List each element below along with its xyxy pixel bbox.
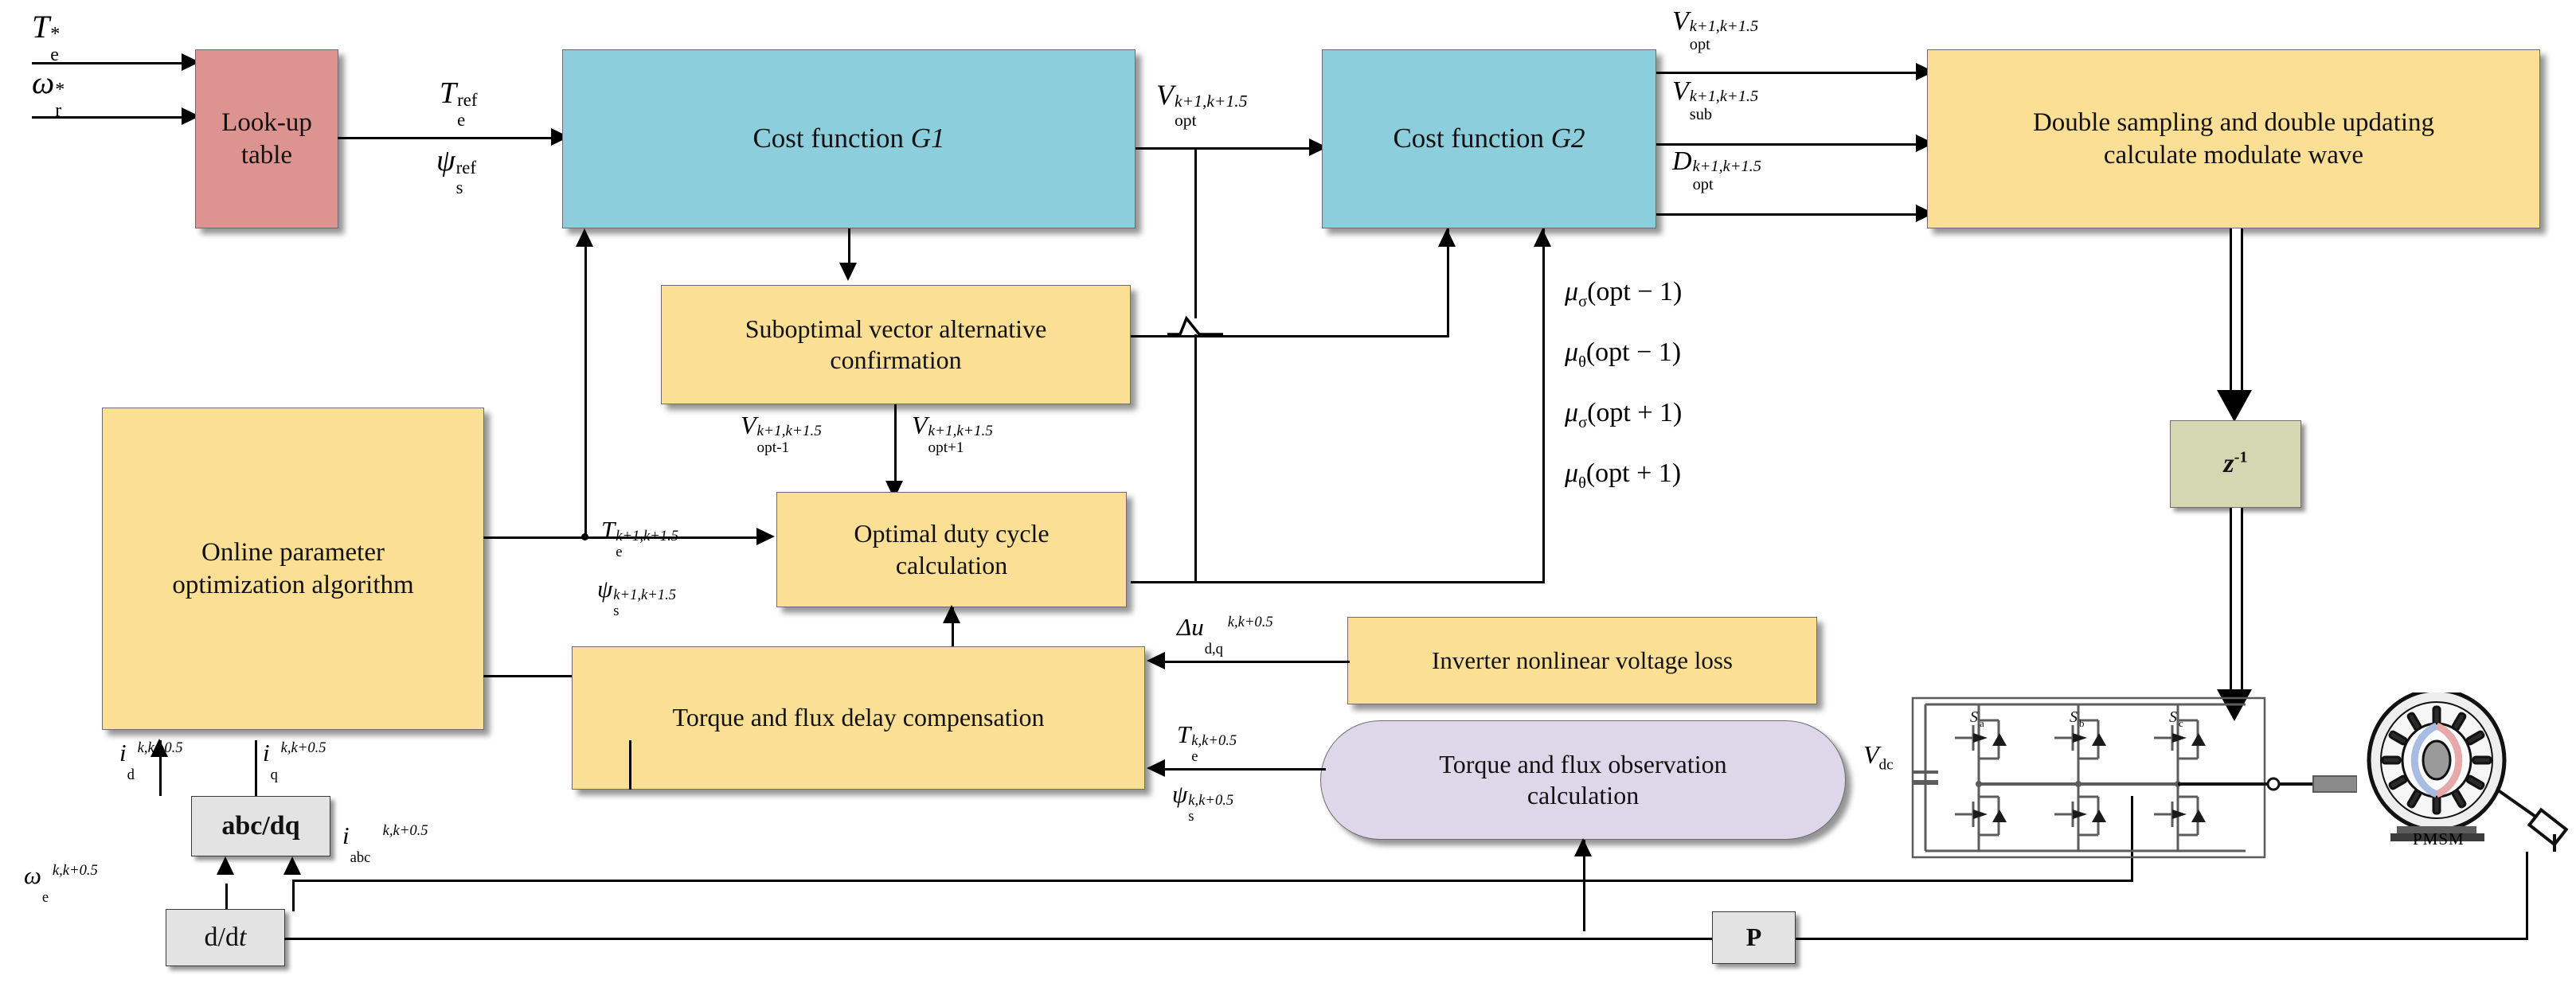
svg-text:S: S — [2169, 708, 2177, 726]
block-abc-dq[interactable]: abc/dq — [191, 796, 330, 856]
block-double-sampling[interactable]: Double sampling and double updating calc… — [1927, 49, 2540, 228]
block-optimal-duty[interactable]: Optimal duty cycle calculation — [776, 492, 1127, 607]
line-iabc-feedback — [292, 880, 2133, 882]
svg-text:a: a — [1980, 717, 1984, 729]
line-vopt-branch-down — [1194, 147, 1197, 318]
lookup-table-line2: table — [241, 139, 292, 171]
cost-function-g1-label: Cost function G1 — [752, 122, 944, 156]
mu-label-theta-minus: μθ(opt − 1) — [1565, 337, 1681, 372]
signal-label-te-k: Tk,k+0.5e — [1177, 720, 1190, 749]
mu-label-sigma-minus: μσ(opt − 1) — [1565, 277, 1682, 311]
line-iq-up — [255, 740, 257, 796]
input-line-te — [32, 62, 191, 64]
line-g2-dopt — [1656, 213, 1927, 216]
arrowhead-te-psi-duty — [756, 528, 775, 545]
arrowhead-g1-suboptimal — [839, 263, 857, 281]
inverter-schematic: S a S b S c — [1911, 696, 2357, 868]
double-sampling-line1: Double sampling and double updating — [2033, 107, 2434, 138]
line-obs-to-delay — [1163, 768, 1326, 770]
line-iabc-to-abcdq — [292, 880, 295, 911]
block-torque-flux-delay[interactable]: Torque and flux delay compensation — [572, 646, 1145, 790]
arrowhead-ddt-abcdq — [217, 856, 234, 875]
signal-label-v-opt-out: Vk+1,k+1.5opt — [1672, 6, 1689, 37]
svg-text:b: b — [2079, 717, 2085, 729]
torque-flux-obs-line1: Torque and flux observation — [1439, 749, 1726, 780]
line-lookup-to-g1 — [338, 137, 561, 139]
signal-label-psi-s-k: ψk,k+0.5s — [1172, 780, 1187, 809]
suboptimal-line1: Suboptimal vector alternative — [745, 314, 1047, 345]
ddt-label: d/dt — [205, 921, 247, 954]
pmsm-label: PMSM — [2413, 829, 2465, 849]
block-cost-function-g2[interactable]: Cost function G2 — [1322, 49, 1656, 228]
line-suboptimal-right — [1131, 335, 1449, 337]
z-inverse-label: z-1 — [2223, 447, 2247, 480]
line-duty-to-g2-up — [1542, 228, 1545, 583]
signal-label-delta-u-dq: Δud,qk,k+0.5 — [1177, 613, 1273, 642]
g2-symbol: G2 — [1551, 123, 1585, 154]
block-torque-flux-observation[interactable]: Torque and flux observation calculation — [1320, 720, 1846, 840]
block-z-inverse[interactable]: z-1 — [2170, 420, 2301, 508]
signal-label-te-star: T*e — [32, 8, 49, 45]
mu-label-sigma-plus: μσ(opt + 1) — [1565, 398, 1682, 432]
signal-label-i-q: iqk,k+0.5 — [263, 739, 326, 767]
svg-text:S: S — [1970, 708, 1978, 726]
arrowhead-iabc-abcdq — [283, 856, 301, 875]
svg-text:c: c — [2179, 717, 2183, 729]
svg-text:S: S — [2070, 708, 2078, 726]
suboptimal-line2: confirmation — [830, 345, 961, 376]
line-theta-feedback — [284, 938, 2528, 940]
block-cost-function-g1[interactable]: Cost function G1 — [562, 49, 1136, 228]
line-suboptimal-to-duty — [894, 404, 897, 492]
signal-label-d-opt-out: Dk+1,k+1.5opt — [1672, 146, 1692, 177]
cost-function-g2-label: Cost function G2 — [1393, 122, 1585, 156]
torque-flux-delay-label: Torque and flux delay compensation — [673, 702, 1045, 733]
g1-symbol: G1 — [911, 123, 945, 154]
optimal-duty-line2: calculation — [896, 550, 1007, 581]
signal-label-i-abc: iabck,k+0.5 — [342, 821, 428, 850]
arrowhead-p-observation — [1574, 838, 1592, 856]
optimal-duty-line1: Optimal duty cycle — [854, 518, 1049, 549]
abc-dq-label: abc/dq — [221, 809, 299, 842]
arrowhead-online-g1 — [576, 228, 593, 247]
line-g1-to-g2 — [1136, 147, 1319, 150]
block-ddt[interactable]: d/dt — [166, 909, 285, 966]
line-idq-into-delay — [629, 740, 631, 790]
line-inverterloss-to-delay — [1163, 661, 1350, 663]
bus-doublesampling-to-z — [2230, 228, 2243, 400]
signal-label-v-opt-minus1: Vk+1,k+1.5opt-1 — [741, 411, 756, 440]
arrowhead-inverterloss-delay — [1147, 652, 1165, 669]
junction-dot-te-psi — [581, 533, 588, 540]
arrowhead-duty-g2 — [1534, 228, 1551, 247]
block-inverter-loss[interactable]: Inverter nonlinear voltage loss — [1347, 617, 1817, 704]
signal-label-te-k1: Tk+1,k+1.5e — [601, 516, 615, 544]
signal-label-v-dc: Vdc — [1863, 740, 1894, 774]
line-duty-to-g2-right — [1131, 581, 1545, 583]
line-vopt-branch-down2 — [1194, 334, 1197, 581]
input-line-wr — [32, 116, 191, 119]
signal-label-wr-star: ω*r — [32, 64, 54, 101]
arrowhead-suboptimal-g2 — [1438, 228, 1456, 247]
online-param-line1: Online parameter — [201, 536, 385, 568]
arrowhead-delay-duty — [943, 605, 960, 623]
signal-label-v-opt-plus1: Vk+1,k+1.5opt+1 — [912, 411, 928, 440]
line-online-to-g1-h — [483, 536, 587, 539]
torque-flux-obs-line2: calculation — [1527, 780, 1639, 811]
arrowhead-to-z — [2217, 390, 2252, 422]
lookup-table-line1: Look-up — [221, 107, 312, 138]
signal-label-v-opt-g1g2: Vk+1,k+1.5opt — [1156, 78, 1174, 111]
signal-label-psi-s-ref: ψrefs — [436, 143, 455, 178]
p-label: P — [1746, 922, 1762, 953]
block-diagram-canvas: T*e ω*r Look-up table Trefe ψrefs Cost f… — [0, 0, 2576, 987]
line-online-to-g1-v — [584, 239, 587, 538]
arrowhead-obs-delay — [1147, 759, 1165, 777]
bus-z-to-inverter — [2230, 508, 2243, 699]
arrowhead-id-up — [150, 739, 168, 757]
double-sampling-line2: calculate modulate wave — [2104, 139, 2363, 171]
inverter-loss-label: Inverter nonlinear voltage loss — [1432, 646, 1733, 676]
line-g2-vsub — [1656, 143, 1927, 146]
online-param-line2: optimization algorithm — [172, 569, 413, 601]
signal-label-v-sub-out: Vk+1,k+1.5sub — [1672, 76, 1689, 107]
mu-label-theta-plus: μθ(opt + 1) — [1565, 458, 1681, 493]
signal-label-omega-e: ωek,k+0.5 — [24, 861, 98, 890]
block-suboptimal-vector[interactable]: Suboptimal vector alternative confirmati… — [661, 285, 1131, 404]
signal-label-psi-s-k1: ψk+1,k+1.5s — [597, 575, 612, 603]
block-online-parameter[interactable]: Online parameter optimization algorithm — [102, 408, 484, 730]
line-g2-vopt — [1656, 72, 1927, 74]
signal-label-te-ref: Trefe — [440, 76, 456, 111]
block-lookup-table[interactable]: Look-up table — [195, 49, 338, 228]
block-p[interactable]: P — [1712, 911, 1796, 964]
